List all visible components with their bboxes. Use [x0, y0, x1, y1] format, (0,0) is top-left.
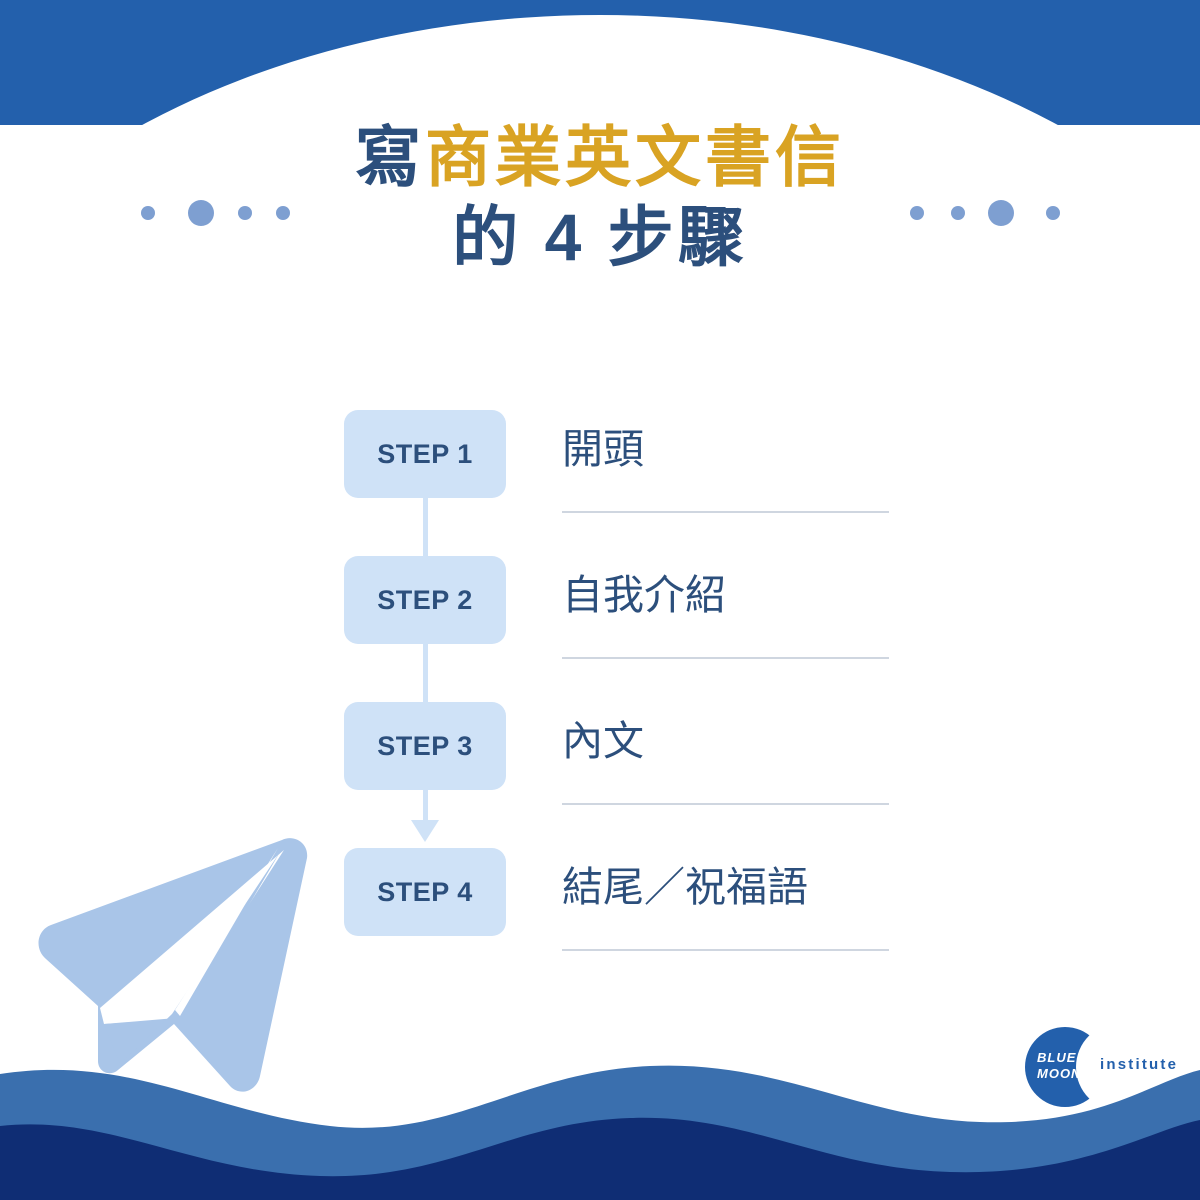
step-chip-4[interactable]: STEP 4 [344, 848, 506, 936]
logo-mark-line-2: MOON [1037, 1066, 1093, 1082]
step-divider [562, 803, 889, 805]
step-connector-line [423, 790, 428, 824]
step-row[interactable]: STEP 2 自我介紹 [344, 556, 889, 702]
step-row[interactable]: STEP 3 內文 [344, 702, 889, 848]
page-title: 寫商業英文書信 的 4 步驟 [0, 118, 1200, 276]
step-chip-3[interactable]: STEP 3 [344, 702, 506, 790]
step-label-4: 結尾／祝福語 [562, 856, 892, 918]
title-line-1: 寫商業英文書信 [0, 118, 1200, 196]
step-divider [562, 657, 889, 659]
logo-mark-line-1: BLUE [1037, 1050, 1093, 1066]
step-label-3: 內文 [562, 710, 892, 772]
title-topic: 商業英文書信 [425, 120, 845, 194]
bottom-wave-decoration [0, 1060, 1200, 1200]
poster-canvas: 寫商業英文書信 的 4 步驟 STEP 1 開頭 STEP 2 自我介紹 STE… [0, 0, 1200, 1200]
top-banner-arch [0, 0, 1200, 125]
logo-wordmark: institute [1100, 1056, 1178, 1073]
step-connector-line [423, 644, 428, 702]
step-chip-2[interactable]: STEP 2 [344, 556, 506, 644]
step-row[interactable]: STEP 4 結尾／祝福語 [344, 848, 889, 994]
logo-mark-text: BLUE MOON [1037, 1050, 1093, 1082]
step-row[interactable]: STEP 1 開頭 [344, 410, 889, 556]
step-connector-line [423, 498, 428, 556]
title-verb: 寫 [355, 120, 425, 194]
step-divider [562, 511, 889, 513]
step-divider [562, 949, 889, 951]
step-connector-arrow-icon [411, 820, 439, 842]
step-chip-1[interactable]: STEP 1 [344, 410, 506, 498]
step-label-1: 開頭 [562, 418, 892, 480]
brand-logo: BLUE MOON institute [1024, 1026, 1192, 1112]
steps-list: STEP 1 開頭 STEP 2 自我介紹 STEP 3 內文 STEP 4 結… [344, 410, 889, 994]
title-line-2: 的 4 步驟 [0, 198, 1200, 276]
step-label-2: 自我介紹 [562, 564, 892, 626]
